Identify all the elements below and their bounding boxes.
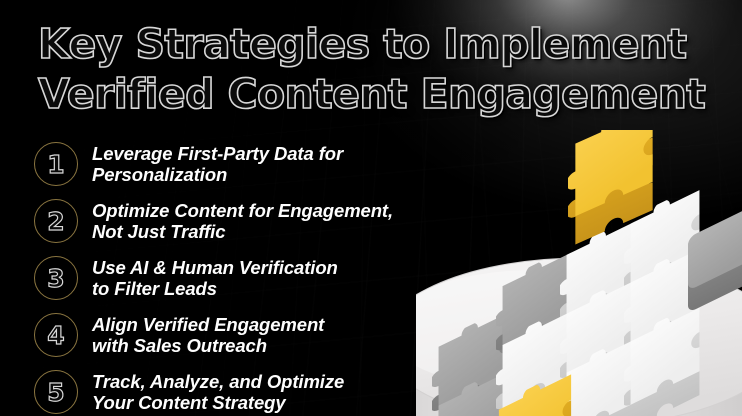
list-item: 5 Track, Analyze, and Optimize Your Cont… — [34, 368, 434, 414]
list-item-text: Leverage First-Party Data for Personaliz… — [92, 140, 343, 185]
list-item-line-1: Track, Analyze, and Optimize — [92, 371, 344, 392]
title-line-1: Key Strategies to Implement — [38, 22, 718, 67]
list-item-line-1: Leverage First-Party Data for — [92, 143, 343, 164]
page-title: Key Strategies to Implement Verified Con… — [38, 22, 718, 117]
list-item-text: Optimize Content for Engagement, Not Jus… — [92, 197, 393, 242]
list-item-line-1: Use AI & Human Verification — [92, 257, 338, 278]
list-item-line-1: Optimize Content for Engagement, — [92, 200, 393, 221]
list-item: 3 Use AI & Human Verification to Filter … — [34, 254, 434, 300]
list-item-text: Align Verified Engagement with Sales Out… — [92, 311, 324, 356]
number-badge-label: 3 — [47, 266, 64, 291]
strategy-list: 1 Leverage First-Party Data for Personal… — [34, 140, 434, 414]
number-badge-label: 4 — [47, 323, 64, 348]
number-badge-4: 4 — [34, 313, 78, 357]
list-item-text: Use AI & Human Verification to Filter Le… — [92, 254, 338, 299]
number-badge-3: 3 — [34, 256, 78, 300]
list-item-line-1: Align Verified Engagement — [92, 314, 324, 335]
number-badge-1: 1 — [34, 142, 78, 186]
list-item-line-2: Not Just Traffic — [92, 221, 393, 242]
list-item-line-2: Personalization — [92, 164, 343, 185]
list-item-line-2: to Filter Leads — [92, 278, 338, 299]
number-badge-label: 2 — [47, 209, 64, 234]
list-item-line-2: Your Content Strategy — [92, 392, 344, 413]
number-badge-label: 5 — [47, 380, 64, 405]
number-badge-2: 2 — [34, 199, 78, 243]
slide-canvas: Key Strategies to Implement Verified Con… — [0, 0, 742, 416]
list-item-line-2: with Sales Outreach — [92, 335, 324, 356]
number-badge-label: 1 — [47, 152, 64, 177]
title-line-2: Verified Content Engagement — [38, 72, 718, 117]
list-item-text: Track, Analyze, and Optimize Your Conten… — [92, 368, 344, 413]
number-badge-5: 5 — [34, 370, 78, 414]
list-item: 2 Optimize Content for Engagement, Not J… — [34, 197, 434, 243]
list-item: 4 Align Verified Engagement with Sales O… — [34, 311, 434, 357]
list-item: 1 Leverage First-Party Data for Personal… — [34, 140, 434, 186]
puzzle-illustration — [416, 130, 742, 416]
